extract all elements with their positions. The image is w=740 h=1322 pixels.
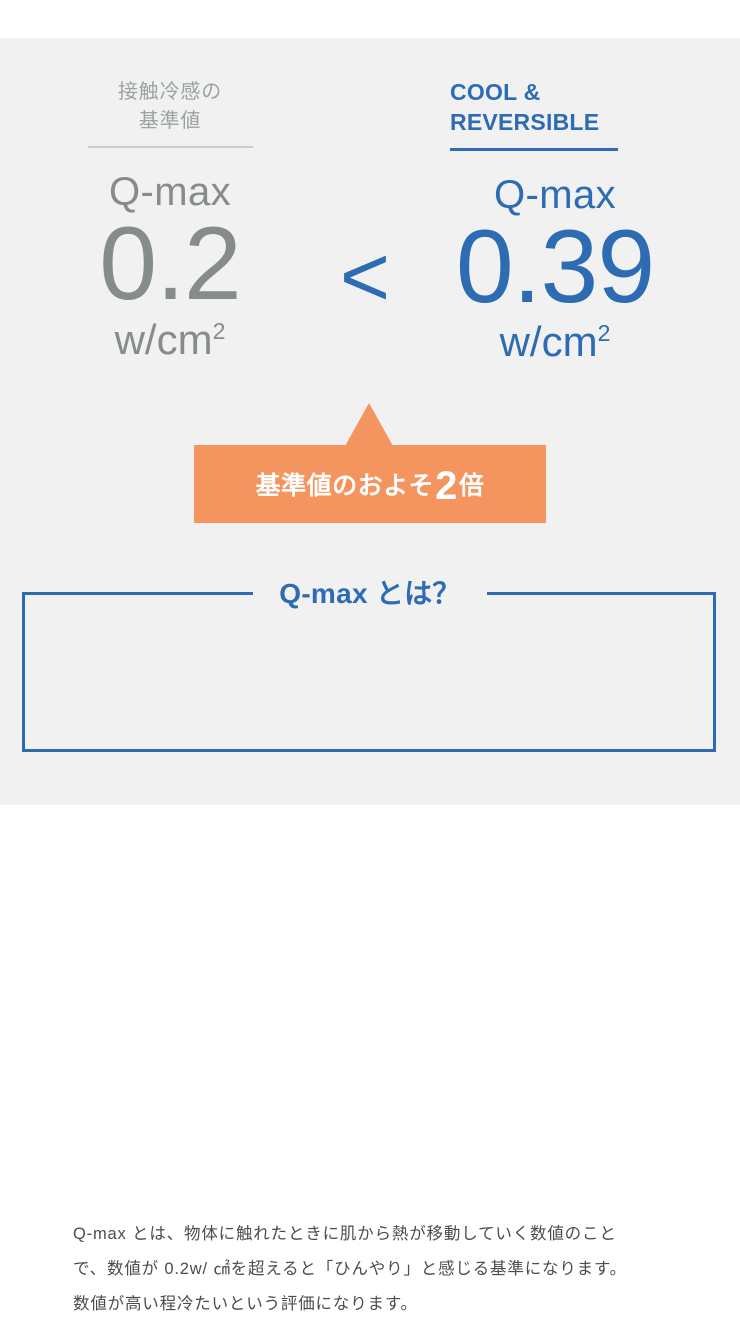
product-unit: w/cm2	[410, 321, 700, 363]
standard-value: 0.2	[25, 217, 315, 313]
product-unit-text: w/cm	[500, 318, 598, 365]
product-value: 0.39	[410, 220, 700, 316]
product-kicker-line1: COOL &	[450, 78, 700, 108]
info-line-3: 数値が高い程冷たいという評価になります。	[73, 1287, 723, 1322]
info-line-2-a: で、数値が 0.2w/ ㎠	[73, 1260, 231, 1278]
standard-kicker-line1: 接触冷感の	[25, 78, 315, 107]
info-box-body: Q-max とは、物体に触れたときに肌から熱が移動していく数値のこと で、数値が…	[73, 1217, 723, 1322]
callout-arrow-icon	[345, 403, 393, 446]
product-kicker-line2: REVERSIBLE	[450, 108, 700, 138]
comparison-column-product: COOL & REVERSIBLE Q-max 0.39 w/cm2	[410, 38, 700, 363]
standard-kicker: 接触冷感の 基準値	[25, 78, 315, 136]
info-line-1: Q-max とは、物体に触れたときに肌から熱が移動していく数値のこと	[73, 1217, 723, 1252]
info-box-title: Q-max とは？	[0, 572, 740, 612]
qmax-comparison: 接触冷感の 基準値 Q-max 0.2 w/cm2 < COOL & REVER…	[0, 38, 740, 398]
callout-text: 基準値のおよそ2倍	[194, 445, 546, 523]
standard-unit-exponent: 2	[213, 318, 226, 344]
info-line-2-b: を超えると「ひんやり」と感じる基準になります。	[231, 1260, 627, 1278]
product-kicker: COOL & REVERSIBLE	[410, 78, 700, 138]
less-than-icon: <	[325, 234, 405, 320]
callout-text-before: 基準値のおよそ	[256, 466, 435, 502]
standard-divider	[88, 146, 253, 148]
product-divider	[450, 148, 618, 151]
standard-unit: w/cm2	[25, 319, 315, 361]
promo-graphic: 接触冷感の 基準値 Q-max 0.2 w/cm2 < COOL & REVER…	[0, 0, 740, 845]
callout-text-after: 倍	[459, 466, 485, 502]
comparison-column-standard: 接触冷感の 基準値 Q-max 0.2 w/cm2	[25, 38, 315, 361]
info-box-title-text: Q-max とは？	[253, 578, 486, 609]
info-line-2: で、数値が 0.2w/ ㎠を超えると「ひんやり」と感じる基準になります。	[73, 1252, 723, 1287]
product-unit-exponent: 2	[598, 320, 611, 346]
info-box: Q-max とは、物体に触れたときに肌から熱が移動していく数値のこと で、数値が…	[22, 592, 716, 752]
callout-emphasis: 2	[435, 466, 458, 506]
standard-unit-text: w/cm	[115, 316, 213, 363]
standard-kicker-line2: 基準値	[25, 107, 315, 136]
callout-banner: 基準値のおよそ2倍	[194, 445, 546, 523]
